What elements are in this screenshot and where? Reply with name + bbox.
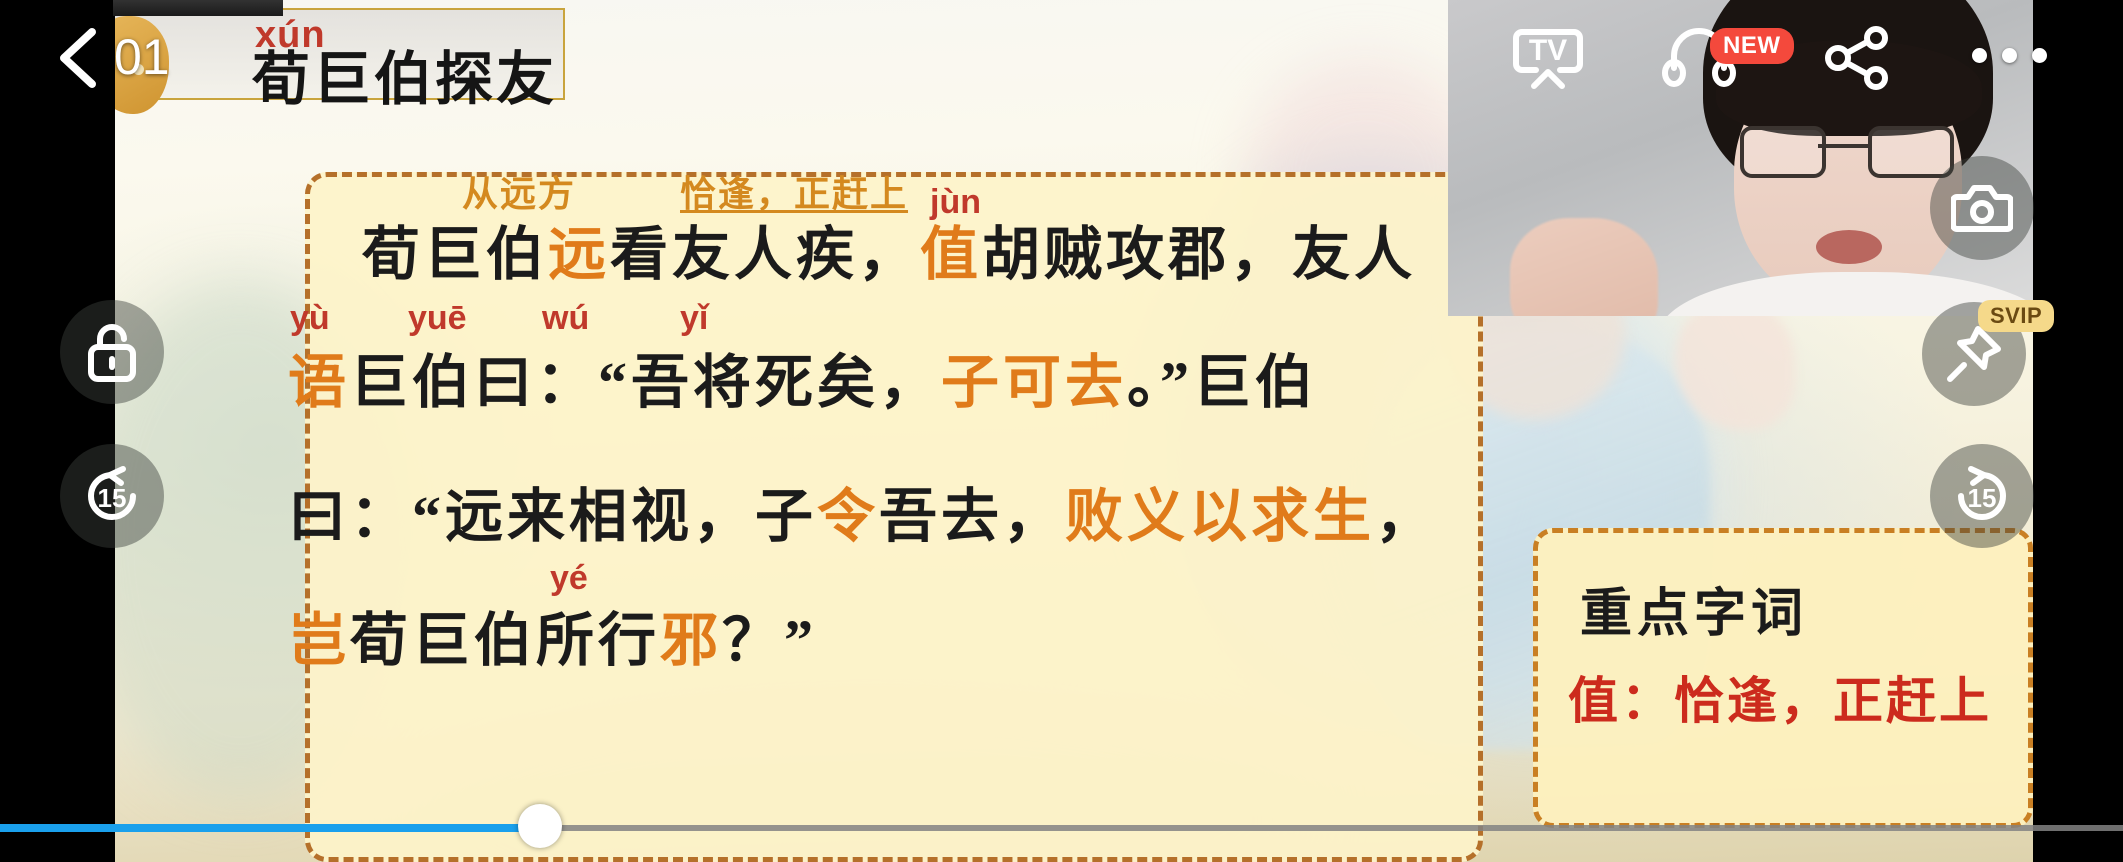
text-line-3: 曰：“远来相视，子令吾去，败义以求生， <box>288 469 1437 553</box>
key-words-body: 值：恰逢，正赶上 <box>1568 661 1992 733</box>
line2-seg4: 。”巨伯 <box>1127 350 1317 415</box>
svg-text:TV: TV <box>1529 34 1567 67</box>
line2-seg2: 巨伯曰：“吾将死矣， <box>350 350 941 415</box>
key-words-title: 重点字词 <box>1580 571 1808 646</box>
line1-seg2: 远 <box>548 222 610 287</box>
progress-thumb[interactable] <box>518 804 562 848</box>
episode-number: 01 <box>114 28 170 86</box>
video-player-stage: xún 荀巨伯探友 从远方 恰逢，正赶上 jùn 荀巨伯远看友人疾，值胡贼攻郡，… <box>0 0 2123 862</box>
slide-title-plate: xún 荀巨伯探友 <box>115 8 565 100</box>
pinyin-yi: yǐ <box>680 299 708 338</box>
more-dot <box>1972 48 1987 63</box>
line1-seg3: 看友人疾， <box>610 222 920 287</box>
line4-seg2: 荀巨伯所行 <box>350 608 660 673</box>
status-bar-fragment <box>113 0 283 16</box>
line1-seg4: 值 <box>920 222 982 287</box>
line1-seg1: 荀巨伯 <box>362 222 548 287</box>
progress-bar[interactable] <box>0 822 2123 832</box>
share-icon[interactable] <box>1822 24 1894 92</box>
line4-seg1: 岂 <box>288 608 350 673</box>
line1-seg5: 胡贼攻郡，友人 <box>982 222 1416 287</box>
key-words-card: 重点字词 值：恰逢，正赶上 <box>1533 528 2033 828</box>
rewind-15-icon[interactable]: 15 <box>60 444 164 548</box>
text-line-2: 语巨伯曰：“吾将死矣，子可去。”巨伯 <box>288 335 1317 419</box>
letterbox-right <box>2033 0 2123 862</box>
more-dots-icon[interactable] <box>1972 40 2062 72</box>
line3-seg5: ， <box>1375 484 1437 549</box>
forward-15-icon[interactable]: 15 <box>1930 444 2034 548</box>
teacher-glasses-bridge <box>1818 144 1868 148</box>
back-chevron-icon[interactable] <box>48 24 112 92</box>
more-dot <box>2032 48 2047 63</box>
pinyin-yu: yù <box>290 299 330 338</box>
line4-seg3: 邪 <box>660 608 722 673</box>
svg-text:15: 15 <box>1968 483 1997 513</box>
new-badge: NEW <box>1710 28 1794 64</box>
teacher-mouth <box>1816 230 1882 264</box>
pinyin-yue: yuē <box>408 299 467 338</box>
tv-cast-icon[interactable]: TV <box>1512 24 1584 90</box>
line3-seg1: 曰：“远来相视，子 <box>288 484 817 549</box>
progress-fill <box>0 824 540 832</box>
teacher-glasses-left <box>1740 126 1826 178</box>
line4-seg4: ？” <box>722 608 817 673</box>
line2-seg3: 子可去 <box>941 350 1127 415</box>
slide-title-text: 荀巨伯探友 <box>252 32 557 116</box>
pinyin-wu: wú <box>542 299 589 338</box>
svip-badge: SVIP <box>1978 300 2054 332</box>
line3-seg4: 败义以求生 <box>1065 484 1375 549</box>
text-line-1: 荀巨伯远看友人疾，值胡贼攻郡，友人 <box>362 207 1416 291</box>
text-line-4: 岂荀巨伯所行邪？” <box>288 593 817 677</box>
line3-seg2: 令 <box>817 484 879 549</box>
main-text-card: 从远方 恰逢，正赶上 jùn 荀巨伯远看友人疾，值胡贼攻郡，友人 yù yuē … <box>305 172 1483 862</box>
teacher-hand <box>1510 218 1658 316</box>
line2-seg1: 语 <box>288 350 350 415</box>
teacher-glasses-right <box>1868 126 1954 178</box>
unlock-icon[interactable] <box>60 300 164 404</box>
more-dot <box>2002 48 2017 63</box>
line3-seg3: 吾去， <box>879 484 1065 549</box>
svg-text:15: 15 <box>98 483 127 513</box>
letterbox-left <box>0 0 115 862</box>
camera-icon[interactable] <box>1930 156 2034 260</box>
